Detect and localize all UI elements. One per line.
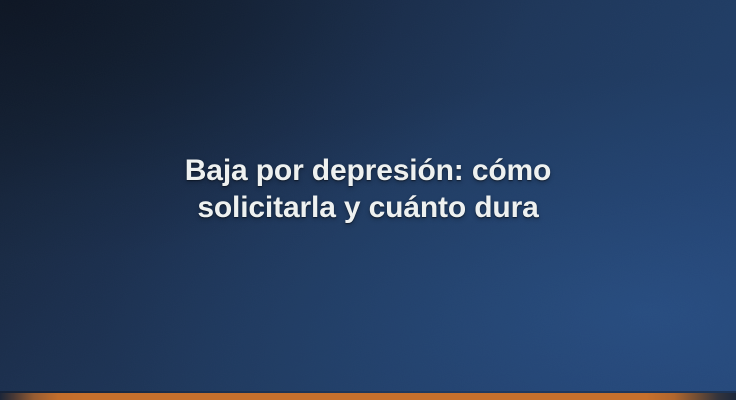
page-title-line-1: Baja por depresión: cómo: [56, 152, 680, 189]
social-share-card: Baja por depresión: cómo solicitarla y c…: [0, 0, 736, 400]
accent-bar: [0, 393, 736, 400]
page-title-line-2: solicitarla y cuánto dura: [56, 189, 680, 226]
page-title: Baja por depresión: cómo solicitarla y c…: [0, 152, 736, 226]
